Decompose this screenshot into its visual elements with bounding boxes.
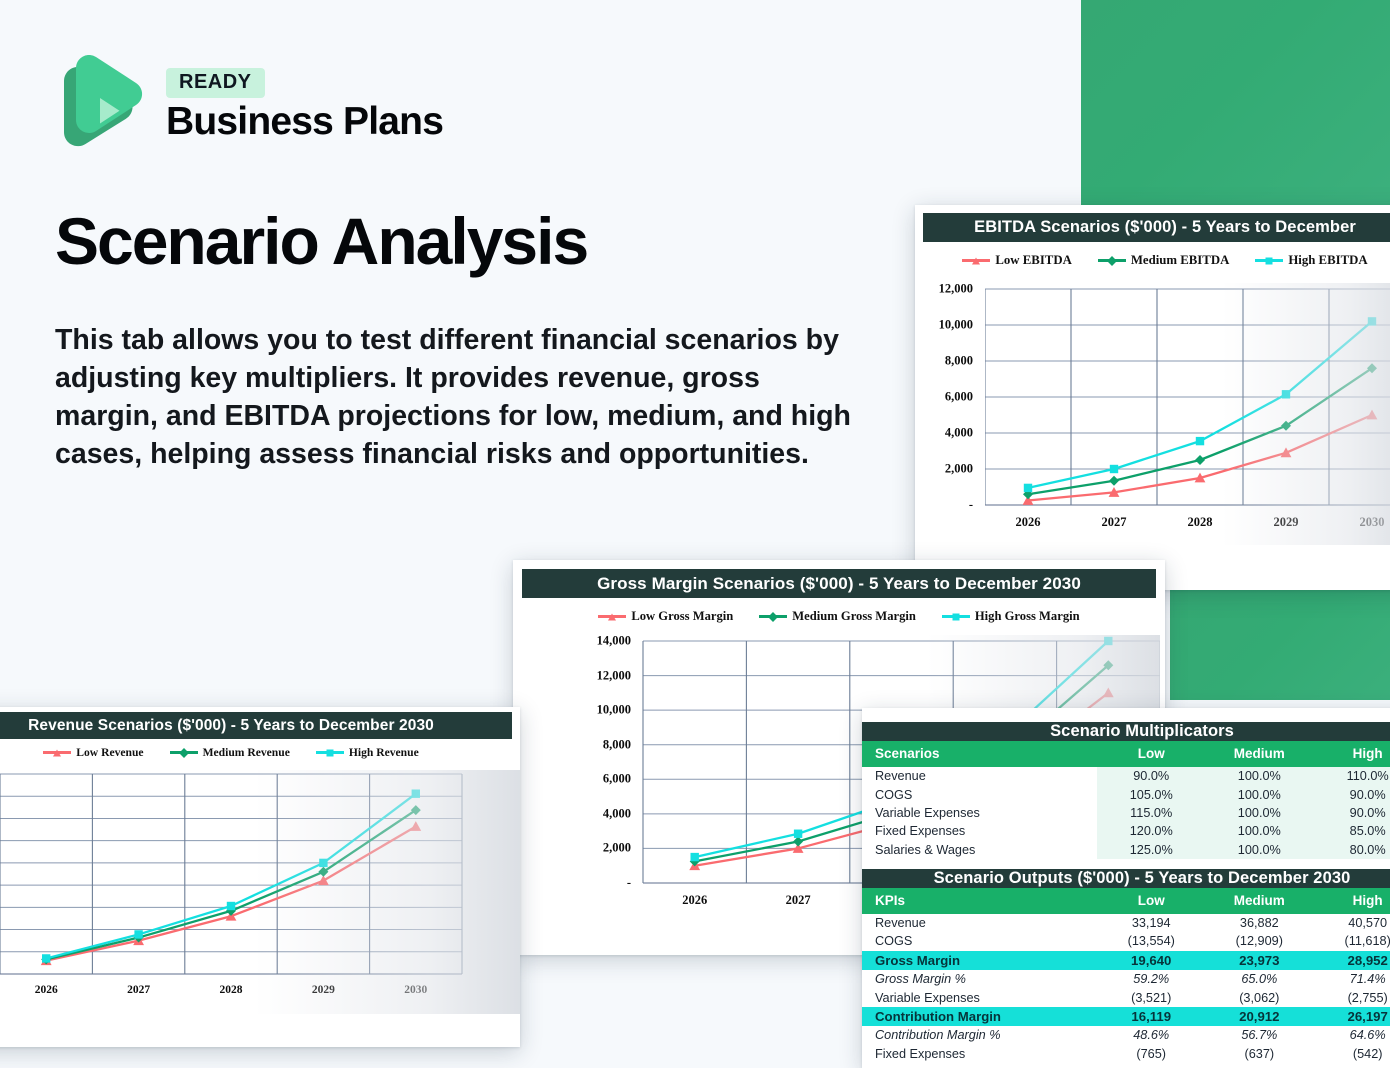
cell-medium: (637) xyxy=(1205,1045,1313,1063)
cell-high: (2,755) xyxy=(1313,988,1390,1006)
y-tick-label: 8,000 xyxy=(551,737,631,752)
multiplicators-header-low: Low xyxy=(1097,741,1205,767)
cell-medium: 100.0% xyxy=(1205,804,1313,822)
series-marker xyxy=(134,930,142,938)
legend-marker-triangle xyxy=(53,749,61,756)
legend-marker-square xyxy=(326,749,333,756)
multiplicators-header-scenarios: Scenarios xyxy=(862,741,1097,767)
brand-lockup: READY Business Plans xyxy=(56,55,443,155)
y-tick-label: - xyxy=(915,498,973,513)
cell-low: 33,194 xyxy=(1097,914,1205,932)
cell-medium: 23,973 xyxy=(1205,951,1313,970)
table-row: Salaries & Wages125.0%100.0%80.0% xyxy=(862,841,1390,859)
cell-medium: 65.0% xyxy=(1205,970,1313,988)
multiplicators-banner: Scenario Multiplicators xyxy=(862,722,1390,741)
y-tick-label: 10,000 xyxy=(915,318,973,333)
cell-high: 64.6% xyxy=(1313,1026,1390,1044)
legend-item-high-revenue: High Revenue xyxy=(316,746,419,759)
legend-marker-diamond xyxy=(179,748,189,758)
legend-label: Medium Gross Margin xyxy=(792,609,916,624)
x-tick-label: 2026 xyxy=(35,984,58,996)
cell-high: 90.0% xyxy=(1313,785,1390,803)
series-marker xyxy=(1368,317,1376,325)
cell-medium: 100.0% xyxy=(1205,767,1313,785)
decorative-green-block-middle xyxy=(1170,590,1390,700)
legend-marker-square xyxy=(952,613,959,620)
legend-label: Medium EBITDA xyxy=(1131,253,1229,268)
cell-low: 105.0% xyxy=(1097,785,1205,803)
table-row: Contribution Margin16,11920,91226,197 xyxy=(862,1007,1390,1026)
legend-marker-square xyxy=(1266,257,1273,264)
series-marker xyxy=(410,821,421,831)
row-label: Contribution Margin xyxy=(862,1007,1097,1026)
outputs-header-medium: Medium xyxy=(1205,888,1313,914)
outputs-header-kpis: KPIs xyxy=(862,888,1097,914)
legend-item-medium-revenue: Medium Revenue xyxy=(170,746,290,759)
legend-line-swatch xyxy=(1255,259,1283,262)
table-row: Gross Margin %59.2%65.0%71.4% xyxy=(862,970,1390,988)
cell-low: 16,119 xyxy=(1097,1007,1205,1026)
y-tick-label: 4,000 xyxy=(551,806,631,821)
cell-high: 110.0% xyxy=(1313,767,1390,785)
series-marker xyxy=(1282,390,1290,398)
legend-label: Medium Revenue xyxy=(203,746,290,759)
table-row: Revenue33,19436,88240,570 xyxy=(862,914,1390,932)
multiplicators-header-medium: Medium xyxy=(1205,741,1313,767)
series-marker xyxy=(1195,455,1205,465)
x-tick-label: 2026 xyxy=(682,893,707,908)
ebitda-plot-area: -2,0004,0006,0008,00010,00012,0002026202… xyxy=(985,283,1390,545)
series-marker xyxy=(1196,437,1204,445)
brand-wordmark: Business Plans xyxy=(166,102,443,142)
x-tick-label: 2029 xyxy=(312,984,335,996)
legend-marker-triangle xyxy=(972,257,980,264)
cell-medium: 100.0% xyxy=(1205,841,1313,859)
cell-high: 40,570 xyxy=(1313,914,1390,932)
revenue-chart-card: Revenue Scenarios ($'000) - 5 Years to D… xyxy=(0,707,520,1047)
y-tick-label: - xyxy=(551,876,631,891)
series-marker xyxy=(794,830,802,838)
legend-item-low-ebitda: Low EBITDA xyxy=(962,253,1071,268)
cell-medium: (3,062) xyxy=(1205,988,1313,1006)
table-row: COGS105.0%100.0%90.0% xyxy=(862,785,1390,803)
cell-high: 80.0% xyxy=(1313,841,1390,859)
table-row: Fixed Expenses(765)(637)(542) xyxy=(862,1045,1390,1063)
table-row: Gross Margin19,64023,97328,952 xyxy=(862,951,1390,970)
cell-high: 90.0% xyxy=(1313,804,1390,822)
row-label: Variable Expenses xyxy=(862,988,1097,1006)
series-marker xyxy=(1024,484,1032,492)
series-marker xyxy=(691,853,699,861)
revenue-chart-title: Revenue Scenarios ($'000) - 5 Years to D… xyxy=(0,712,512,739)
x-tick-label: 2030 xyxy=(404,984,427,996)
x-tick-label: 2027 xyxy=(127,984,150,996)
x-tick-label: 2027 xyxy=(786,893,811,908)
row-label: COGS xyxy=(862,932,1097,950)
scenario-tables-card: Scenario Multiplicators Scenarios Low Me… xyxy=(862,708,1390,1068)
legend-item-high-ebitda: High EBITDA xyxy=(1255,253,1367,268)
table-row: Variable Expenses115.0%100.0%90.0% xyxy=(862,804,1390,822)
x-tick-label: 2028 xyxy=(1188,515,1213,530)
series-marker xyxy=(412,789,420,797)
row-label: Variable Expenses xyxy=(862,804,1097,822)
legend-label: High Revenue xyxy=(349,746,419,759)
row-label: Fixed Expenses xyxy=(862,822,1097,840)
cell-medium: 100.0% xyxy=(1205,822,1313,840)
y-tick-label: 12,000 xyxy=(551,668,631,683)
legend-marker-diamond xyxy=(1107,256,1117,266)
legend-line-swatch xyxy=(1098,259,1126,262)
row-label: Revenue xyxy=(862,767,1097,785)
y-tick-label: 6,000 xyxy=(551,772,631,787)
cell-high: (11,618) xyxy=(1313,932,1390,950)
series-marker xyxy=(1110,465,1118,473)
cell-high: 26,197 xyxy=(1313,1007,1390,1026)
legend-label: Low EBITDA xyxy=(995,253,1071,268)
cell-low: (765) xyxy=(1097,1045,1205,1063)
outputs-header-low: Low xyxy=(1097,888,1205,914)
page-title: Scenario Analysis xyxy=(55,208,587,274)
plot-rev-svg xyxy=(0,770,520,1014)
y-tick-label: 12,000 xyxy=(915,282,973,297)
series-marker xyxy=(793,837,803,847)
legend-label: Low Revenue xyxy=(76,746,143,759)
cell-low: 120.0% xyxy=(1097,822,1205,840)
cell-low: 59.2% xyxy=(1097,970,1205,988)
table-row: Variable Expenses(3,521)(3,062)(2,755) xyxy=(862,988,1390,1006)
page-description: This tab allows you to test different fi… xyxy=(55,322,855,474)
legend-item-high-gross-margin: High Gross Margin xyxy=(942,609,1080,624)
ebitda-chart-title: EBITDA Scenarios ($'000) - 5 Years to De… xyxy=(923,213,1390,242)
legend-line-swatch xyxy=(170,751,198,754)
row-label: Contribution Margin % xyxy=(862,1026,1097,1044)
legend-line-swatch xyxy=(759,615,787,618)
cell-high: (542) xyxy=(1313,1045,1390,1063)
outputs-header-high: High xyxy=(1313,888,1390,914)
x-tick-label: 2029 xyxy=(1274,515,1299,530)
row-label: COGS xyxy=(862,785,1097,803)
legend-line-swatch xyxy=(316,751,344,754)
legend-label: Low Gross Margin xyxy=(631,609,733,624)
series-marker xyxy=(1103,687,1114,697)
ready-badge: READY xyxy=(166,68,265,98)
x-tick-label: 2027 xyxy=(1102,515,1127,530)
plot-ebitda-svg xyxy=(985,283,1390,545)
cell-low: 115.0% xyxy=(1097,804,1205,822)
cell-high: 28,952 xyxy=(1313,951,1390,970)
y-tick-label: 6,000 xyxy=(915,390,973,405)
scenario-multiplicators-table: Scenario Multiplicators Scenarios Low Me… xyxy=(862,722,1390,859)
series-marker xyxy=(1104,637,1112,645)
legend-line-swatch xyxy=(43,751,71,754)
x-tick-label: 2030 xyxy=(1360,515,1385,530)
row-label: Salaries & Wages xyxy=(862,841,1097,859)
cell-low: 125.0% xyxy=(1097,841,1205,859)
multiplicators-header-high: High xyxy=(1313,741,1390,767)
legend-marker-triangle xyxy=(608,613,616,620)
series-marker xyxy=(42,954,50,962)
row-label: Gross Margin % xyxy=(862,970,1097,988)
revenue-plot-area: 20262027202820292030 xyxy=(0,770,520,1014)
cell-low: (13,554) xyxy=(1097,932,1205,950)
cell-low: 19,640 xyxy=(1097,951,1205,970)
cell-high: 85.0% xyxy=(1313,822,1390,840)
legend-label: High Gross Margin xyxy=(975,609,1080,624)
table-row: Revenue90.0%100.0%110.0% xyxy=(862,767,1390,785)
x-tick-label: 2026 xyxy=(1016,515,1041,530)
y-tick-label: 10,000 xyxy=(551,703,631,718)
table-row: Fixed Expenses120.0%100.0%85.0% xyxy=(862,822,1390,840)
decorative-green-block-top xyxy=(1081,0,1390,205)
y-tick-label: 8,000 xyxy=(915,354,973,369)
legend-label: High EBITDA xyxy=(1288,253,1367,268)
cell-medium: 36,882 xyxy=(1205,914,1313,932)
cell-high: 71.4% xyxy=(1313,970,1390,988)
cell-medium: 20,912 xyxy=(1205,1007,1313,1026)
series-marker xyxy=(1367,410,1378,420)
legend-item-low-revenue: Low Revenue xyxy=(43,746,143,759)
scenario-outputs-table: Scenario Outputs ($'000) - 5 Years to De… xyxy=(862,869,1390,1063)
legend-item-medium-ebitda: Medium EBITDA xyxy=(1098,253,1229,268)
series-marker xyxy=(319,859,327,867)
table-row: COGS(13,554)(12,909)(11,618) xyxy=(862,932,1390,950)
y-tick-label: 2,000 xyxy=(915,462,973,477)
table-row: Contribution Margin %48.6%56.7%64.6% xyxy=(862,1026,1390,1044)
legend-marker-diamond xyxy=(768,612,778,622)
play-triangle-logo-icon xyxy=(56,55,148,155)
gross-margin-chart-legend: Low Gross MarginMedium Gross MarginHigh … xyxy=(513,609,1165,624)
revenue-chart-legend: Low RevenueMedium RevenueHigh Revenue xyxy=(0,746,520,759)
legend-line-swatch xyxy=(962,259,990,262)
legend-item-low-gross-margin: Low Gross Margin xyxy=(598,609,733,624)
y-tick-label: 2,000 xyxy=(551,841,631,856)
row-label: Fixed Expenses xyxy=(862,1045,1097,1063)
cell-medium: 56.7% xyxy=(1205,1026,1313,1044)
cell-low: (3,521) xyxy=(1097,988,1205,1006)
series-marker xyxy=(1109,476,1119,486)
row-label: Gross Margin xyxy=(862,951,1097,970)
legend-line-swatch xyxy=(598,615,626,618)
cell-medium: 100.0% xyxy=(1205,785,1313,803)
y-tick-label: 14,000 xyxy=(551,634,631,649)
series-marker xyxy=(227,902,235,910)
cell-medium: (12,909) xyxy=(1205,932,1313,950)
ebitda-chart-card: EBITDA Scenarios ($'000) - 5 Years to De… xyxy=(915,205,1390,590)
cell-low: 48.6% xyxy=(1097,1026,1205,1044)
x-tick-label: 2028 xyxy=(220,984,243,996)
y-tick-label: 4,000 xyxy=(915,426,973,441)
row-label: Revenue xyxy=(862,914,1097,932)
gross-margin-chart-title: Gross Margin Scenarios ($'000) - 5 Years… xyxy=(522,569,1156,598)
cell-low: 90.0% xyxy=(1097,767,1205,785)
outputs-banner: Scenario Outputs ($'000) - 5 Years to De… xyxy=(862,869,1390,888)
legend-item-medium-gross-margin: Medium Gross Margin xyxy=(759,609,916,624)
ebitda-chart-legend: Low EBITDAMedium EBITDAHigh EBITDA xyxy=(915,253,1390,268)
legend-line-swatch xyxy=(942,615,970,618)
